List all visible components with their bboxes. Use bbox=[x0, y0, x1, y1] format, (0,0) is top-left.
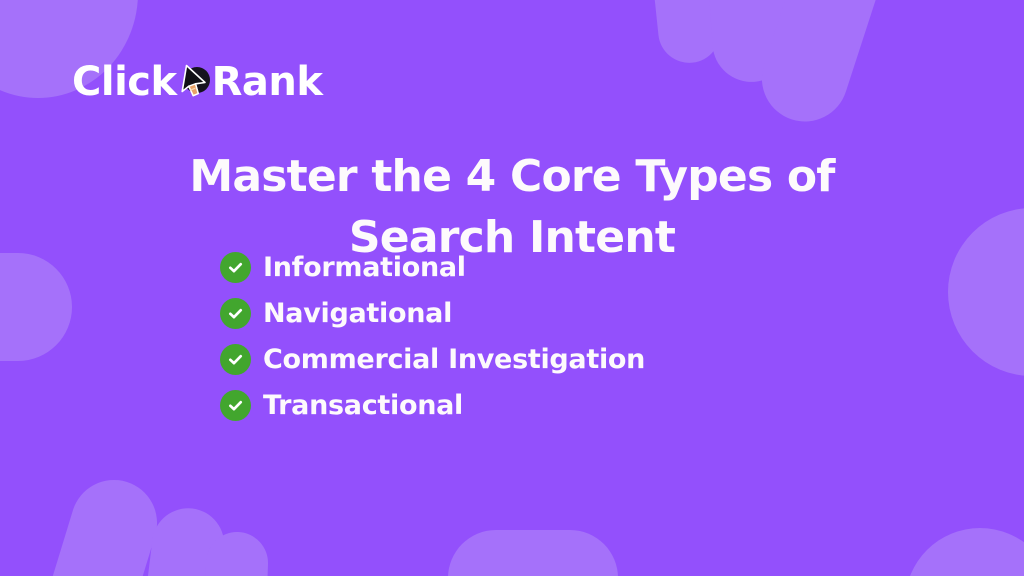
list-item: Navigational bbox=[220, 294, 645, 333]
list-item: Transactional bbox=[220, 386, 645, 425]
list-item-label: Transactional bbox=[263, 392, 463, 419]
promo-graphic: Click Rank Master the 4 Core Types of Se… bbox=[0, 0, 1024, 576]
logo-word-click: Click bbox=[72, 62, 177, 102]
check-icon bbox=[220, 390, 251, 421]
list-item-label: Navigational bbox=[263, 300, 452, 327]
check-icon bbox=[220, 298, 251, 329]
logo-word-rank: Rank bbox=[212, 62, 323, 102]
content-layer: Click Rank Master the 4 Core Types of Se… bbox=[0, 0, 1024, 576]
headline-line-1: Master the 4 Core Types of bbox=[150, 147, 874, 208]
check-icon bbox=[220, 344, 251, 375]
list-item: Informational bbox=[220, 248, 645, 287]
list-item-label: Informational bbox=[263, 254, 466, 281]
list-item-label: Commercial Investigation bbox=[263, 346, 645, 373]
search-intent-checklist: Informational Navigational Commercial In… bbox=[220, 248, 645, 425]
list-item: Commercial Investigation bbox=[220, 340, 645, 379]
check-icon bbox=[220, 252, 251, 283]
brand-logo[interactable]: Click Rank bbox=[72, 56, 322, 108]
cursor-pencil-icon bbox=[172, 60, 216, 104]
